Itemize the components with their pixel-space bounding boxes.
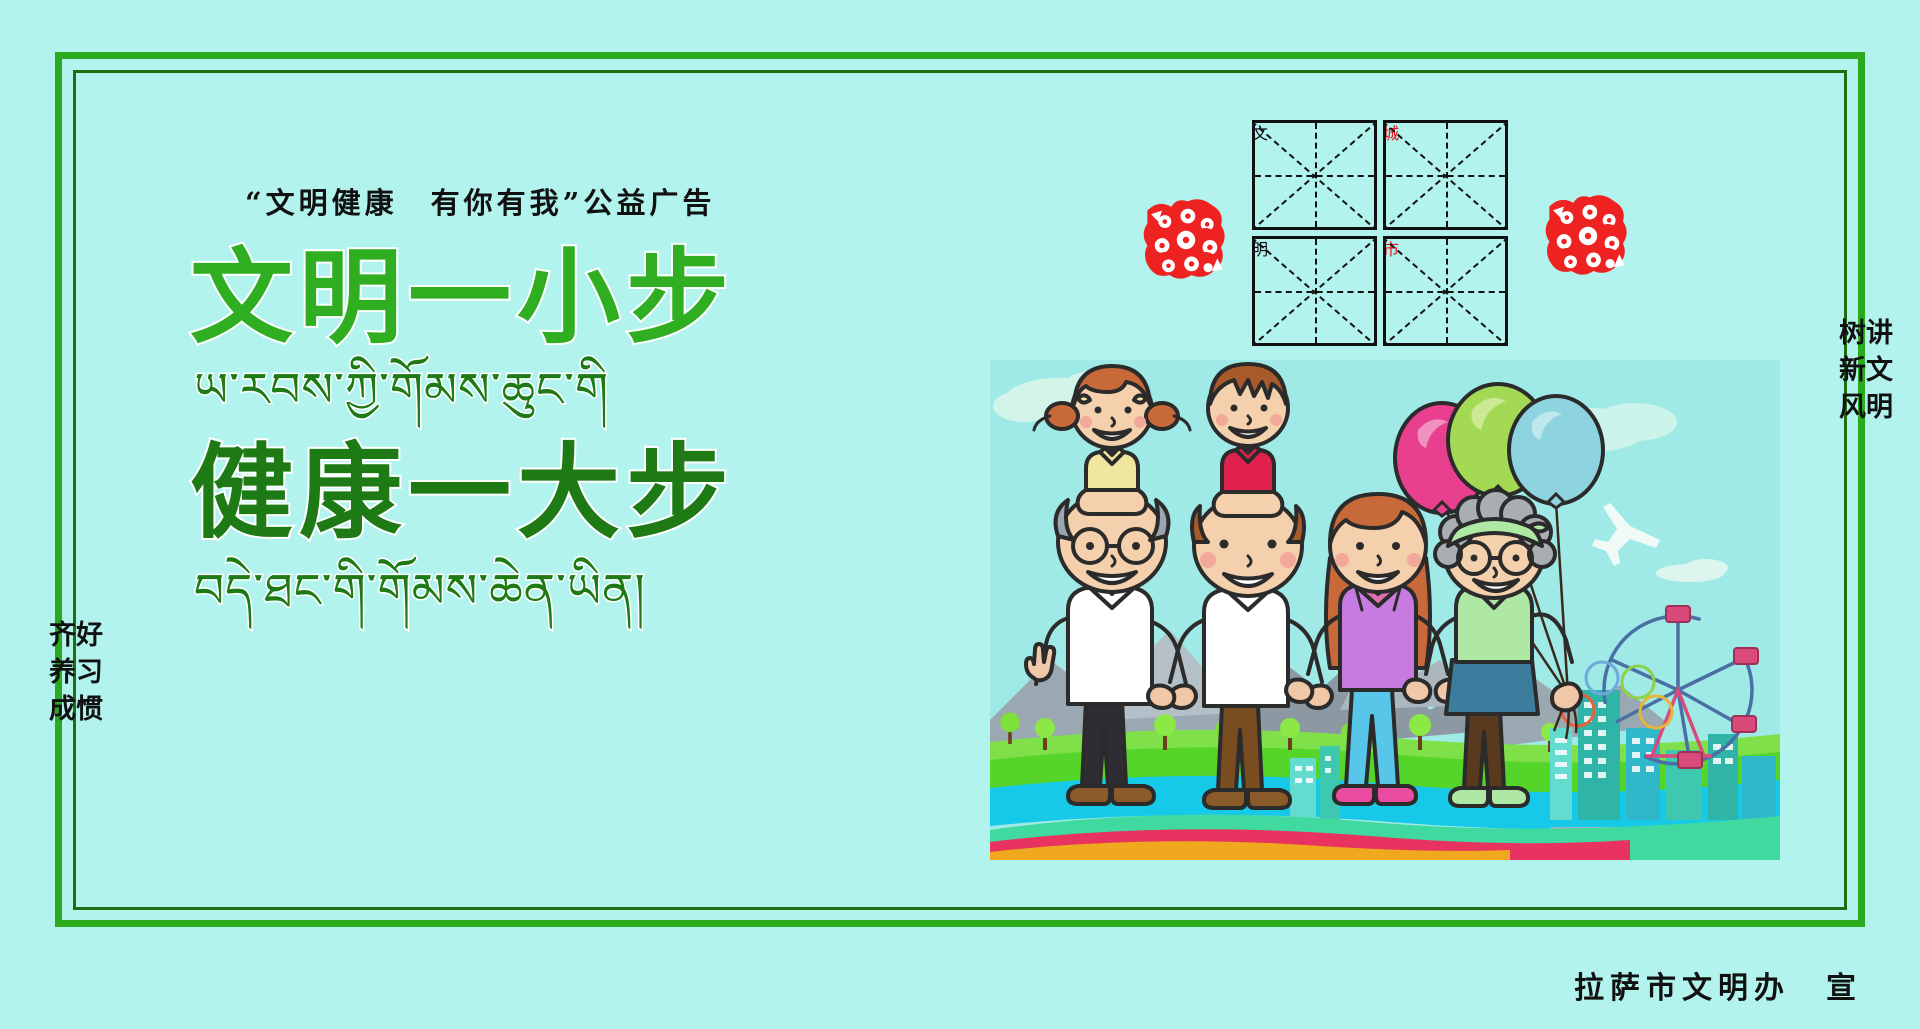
vertical-text-right: 讲文明 树新风 bbox=[1836, 318, 1890, 429]
vertical-text-right-seg2: 树新风 bbox=[1836, 318, 1863, 429]
balloon-blue bbox=[1509, 396, 1603, 508]
headline-line2-tibetan: བདེ་ཐང་གི་གོམས་ཆེན་ཡིན། bbox=[194, 558, 930, 626]
grid-vertical-icon bbox=[1446, 123, 1448, 227]
grid-vertical-icon bbox=[1315, 123, 1317, 227]
vertical-text-left-seg1: 好习惯 bbox=[73, 620, 100, 731]
calligraphy-cell-3: 市 bbox=[1383, 236, 1508, 346]
calligraphy-box-1 bbox=[1383, 120, 1508, 230]
grid-vertical-icon bbox=[1315, 239, 1317, 343]
papercut-ornament-icon-right bbox=[1542, 188, 1634, 284]
headline-block: “文明健康 有你有我”公益广告 文明一小步 ཡ་རབས་ཀྱི་གོམས་ཆུང… bbox=[190, 180, 930, 627]
vertical-text-right-seg1: 讲文明 bbox=[1863, 318, 1890, 429]
calligraphy-cell-1: 城 bbox=[1383, 120, 1508, 230]
vertical-text-left: 好习惯 齐养成 bbox=[46, 620, 100, 731]
vertical-text-left-seg2: 齐养成 bbox=[46, 620, 73, 731]
headline-line2-cn: 健康一大步 bbox=[190, 439, 930, 548]
signature-text: 拉萨市文明办 宣 bbox=[1574, 963, 1862, 1007]
family-illustration bbox=[990, 360, 1780, 860]
calligraphy-box-2 bbox=[1252, 236, 1377, 346]
grid-vertical-icon bbox=[1446, 239, 1448, 343]
calligraphy-cell-0: 文 bbox=[1252, 120, 1377, 230]
headline-line1-tibetan: ཡ་རབས་ཀྱི་གོམས་ཆུང་གི bbox=[194, 357, 930, 425]
ad-label: “文明健康 有你有我”公益广告 bbox=[245, 180, 930, 222]
calligraphy-box-0 bbox=[1252, 120, 1377, 230]
calligraphy-box-3 bbox=[1383, 236, 1508, 346]
calligraphy-grid: 文 城 明 bbox=[1252, 120, 1508, 346]
papercut-ornament-icon-left bbox=[1140, 192, 1232, 288]
calligraphy-cell-2: 明 bbox=[1252, 236, 1377, 346]
illustration-svg bbox=[990, 360, 1780, 860]
headline-line1-cn: 文明一小步 bbox=[190, 244, 930, 353]
poster-canvas: 好习惯 齐养成 讲文明 树新风 “文明健康 有你有我”公益广告 文明一小步 ཡ་… bbox=[0, 0, 1920, 1029]
